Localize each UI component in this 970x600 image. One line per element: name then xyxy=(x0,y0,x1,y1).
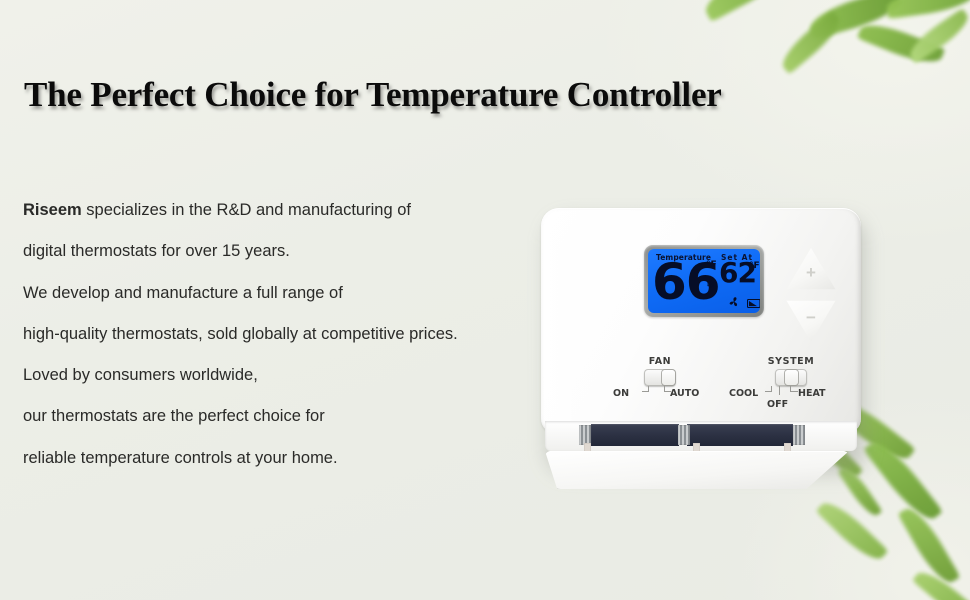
battery-icon xyxy=(747,299,760,308)
snowflake-icon: ❄ xyxy=(706,280,715,291)
battery-door-cover[interactable] xyxy=(545,451,849,489)
lcd-bezel: Temperature Set At 66 °F 62 °F ❄ xyxy=(644,245,764,317)
minus-icon: − xyxy=(785,308,837,328)
temperature-up-button[interactable]: + xyxy=(785,246,837,293)
battery-spring-icon xyxy=(678,425,690,445)
brand-name: Riseem xyxy=(23,201,82,219)
fan-switch-group[interactable]: FAN ON AUTO xyxy=(614,356,706,400)
description-block: Riseem specializes in the R&D and manufa… xyxy=(23,200,543,489)
description-line: We develop and manufacture a full range … xyxy=(23,283,543,324)
battery-spring-icon xyxy=(793,425,805,445)
plus-icon: + xyxy=(785,263,837,283)
fan-switch-knob[interactable] xyxy=(662,370,675,385)
system-switch-label: SYSTEM xyxy=(737,356,845,367)
battery-door-tab xyxy=(584,443,591,452)
battery-compartment xyxy=(545,421,857,451)
page-title: The Perfect Choice for Temperature Contr… xyxy=(24,76,722,115)
system-switch-group[interactable]: SYSTEM COOL HEAT OFF xyxy=(737,356,845,400)
lcd-set-unit: °F xyxy=(749,261,760,271)
battery-door-tab xyxy=(784,443,791,452)
system-switch-options: COOL HEAT OFF xyxy=(737,386,845,400)
battery-door-tab xyxy=(693,443,700,452)
system-option-heat[interactable]: HEAT xyxy=(798,388,826,399)
description-line: Loved by consumers worldwide, xyxy=(23,365,543,406)
fan-switch-options: ON AUTO xyxy=(614,386,706,400)
thermostat-product-image: Temperature Set At 66 °F 62 °F ❄ xyxy=(541,208,870,472)
promo-banner: The Perfect Choice for Temperature Contr… xyxy=(0,0,970,600)
system-switch-knob[interactable] xyxy=(785,370,798,385)
description-line: Riseem specializes in the R&D and manufa… xyxy=(23,200,543,241)
temperature-down-button[interactable]: − xyxy=(785,297,837,344)
system-option-cool[interactable]: COOL xyxy=(729,388,758,399)
description-line-text: specializes in the R&D and manufacturing… xyxy=(82,201,411,219)
system-option-off[interactable]: OFF xyxy=(767,399,788,410)
fan-icon xyxy=(727,295,741,309)
battery-slot xyxy=(687,424,793,446)
system-switch-track[interactable] xyxy=(775,369,807,386)
battery-slot xyxy=(591,424,679,446)
leaf-cluster-top-right-icon xyxy=(690,0,970,170)
description-line: reliable temperature controls at your ho… xyxy=(23,448,543,489)
battery-spring-icon xyxy=(579,425,591,445)
description-line: our thermostats are the perfect choice f… xyxy=(23,406,543,447)
fan-switch-track[interactable] xyxy=(644,369,676,386)
fan-option-auto[interactable]: AUTO xyxy=(670,388,699,399)
description-line: high-quality thermostats, sold globally … xyxy=(23,324,543,365)
lcd-current-unit: °F xyxy=(706,260,717,270)
thermostat-front-panel: Temperature Set At 66 °F 62 °F ❄ xyxy=(541,208,861,433)
description-line: digital thermostats for over 15 years. xyxy=(23,241,543,282)
fan-switch-label: FAN xyxy=(614,356,706,367)
lcd-screen: Temperature Set At 66 °F 62 °F ❄ xyxy=(648,249,760,313)
fan-option-on[interactable]: ON xyxy=(613,388,629,399)
